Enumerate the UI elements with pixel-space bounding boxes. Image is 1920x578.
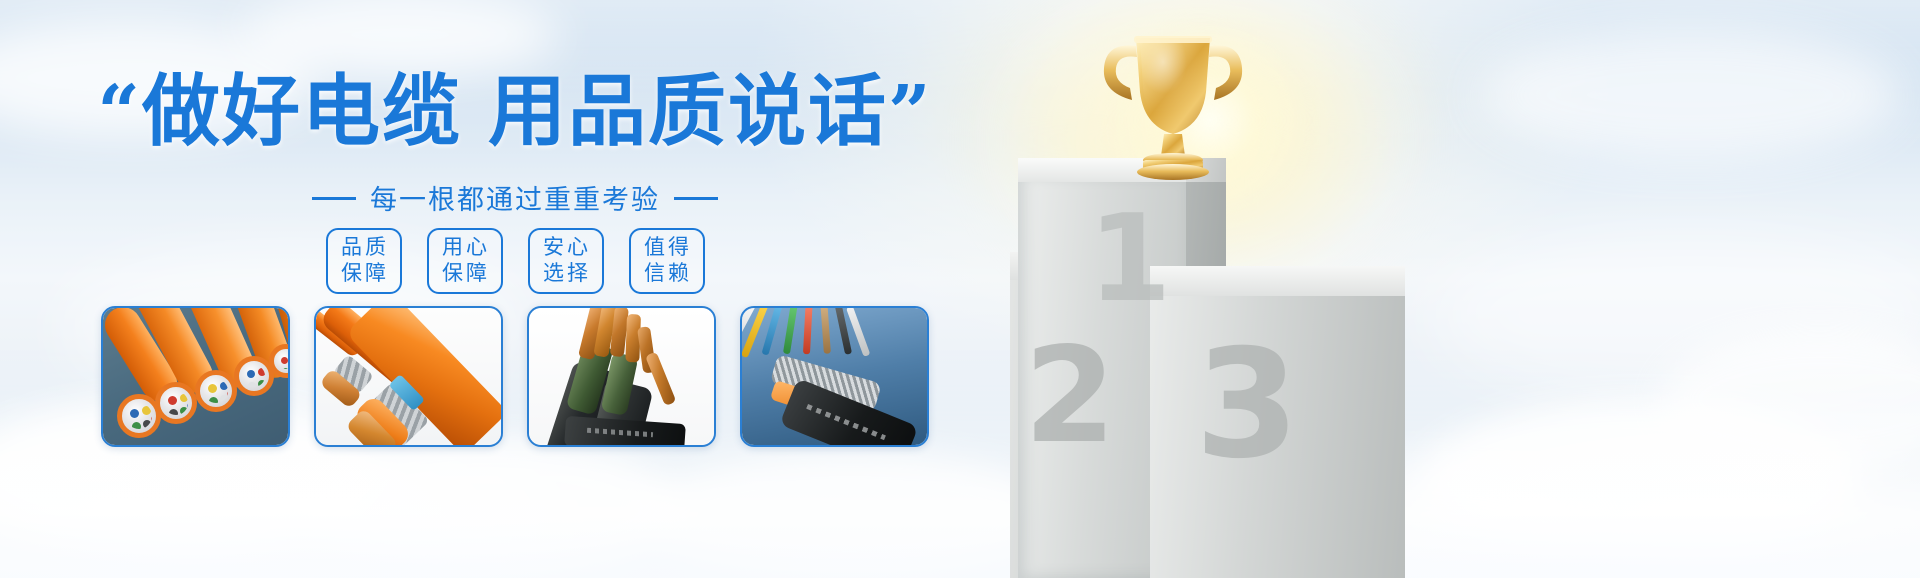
badge-line-2: 保障 [338,261,389,287]
badge-line-2: 选择 [540,261,591,287]
subtitle: 每一根都通过重重考验 [0,182,1030,218]
headline-part-2: 用品质说话 [488,67,888,157]
feature-badge-list: 品质 保障 用心 保障 安心 选择 值得 信赖 [0,228,1030,294]
open-quote: “ [97,70,142,156]
badge-line-1: 值得 [641,235,692,261]
badge-worry-free-choice[interactable]: 安心 选择 [528,228,604,294]
close-quote: ” [888,70,933,156]
podium-number-2: 2 [1024,330,1116,462]
subtitle-dash-left [312,197,356,200]
banner-text-block: “做好电缆用品质说话” 每一根都通过重重考验 品质 保障 用心 保障 安心 选择… [0,0,1030,578]
podium-group: 1 2 3 [1000,0,1920,578]
badge-dedication-guarantee[interactable]: 用心 保障 [427,228,503,294]
badge-line-2: 保障 [439,261,490,287]
product-image-1 [103,308,288,445]
badge-line-1: 安心 [540,235,591,261]
page-title: “做好电缆用品质说话” [0,64,1030,161]
product-card-list [0,306,1030,447]
badge-quality-guarantee[interactable]: 品质 保障 [326,228,402,294]
product-card-armoured-cable[interactable] [527,306,716,447]
product-image-2 [316,308,501,445]
product-image-4 [742,308,927,445]
badge-line-1: 用心 [439,235,490,261]
gold-trophy-icon [1078,30,1268,180]
subtitle-text: 每一根都通过重重考验 [370,185,660,215]
product-card-orange-copper[interactable] [314,306,503,447]
subtitle-dash-right [674,197,718,200]
podium-number-3: 3 [1195,330,1299,480]
promo-banner: 1 2 3 [0,0,1920,578]
badge-line-1: 品质 [338,235,389,261]
podium-block-3-top [1150,266,1405,296]
headline-part-1: 做好电缆 [142,67,462,157]
product-image-3 [529,308,714,445]
badge-trustworthy[interactable]: 值得 信赖 [629,228,705,294]
podium-number-1: 1 [1088,200,1172,320]
product-card-shielded-control-cable[interactable] [740,306,929,447]
product-card-orange-bundle[interactable] [101,306,290,447]
badge-line-2: 信赖 [641,261,692,287]
